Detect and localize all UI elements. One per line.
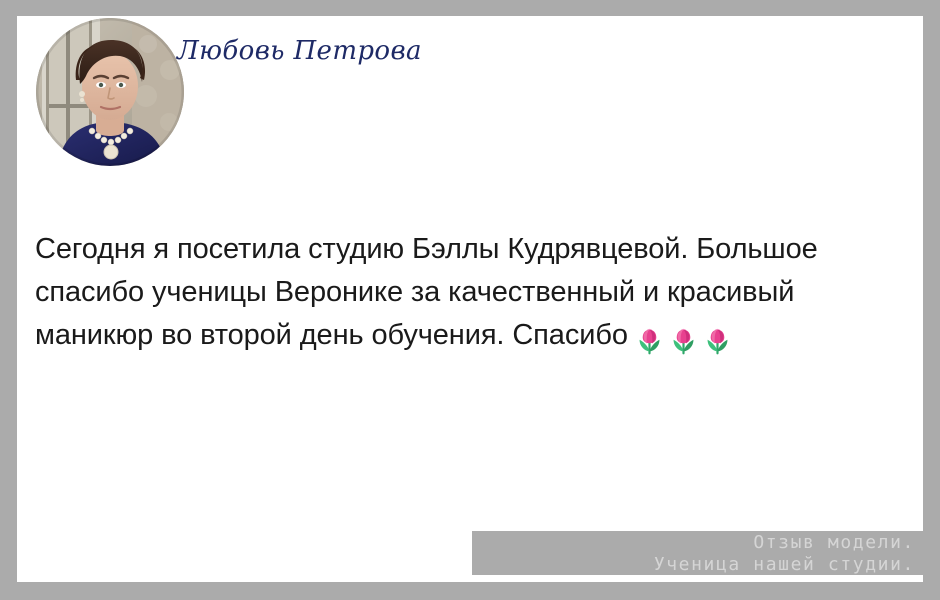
tulip-icon	[635, 327, 664, 356]
review-text: Сегодня я посетила студию Бэллы Кудрявце…	[35, 228, 910, 357]
review-card: Любовь Петрова Сегодня я посетила студию…	[17, 16, 923, 582]
review-line-3-text: маникюр во второй день обучения. Спасибо	[35, 319, 628, 351]
review-line-2: спасибо ученицы Веронике за качественный…	[35, 271, 910, 314]
tulip-icon	[703, 327, 732, 356]
tulip-icon	[669, 327, 698, 356]
review-line-1: Сегодня я посетила студию Бэллы Кудрявце…	[35, 228, 910, 271]
watermark-line-2: Ученица нашей студии.	[472, 554, 915, 576]
review-line-3: маникюр во второй день обучения. Спасибо	[35, 314, 910, 357]
avatar-photo	[36, 18, 184, 166]
watermark-line-1: Отзыв модели.	[472, 532, 915, 554]
watermark-banner: Отзыв модели. Ученица нашей студии.	[472, 531, 923, 575]
tulip-emoji-group	[635, 327, 737, 356]
avatar	[36, 18, 184, 166]
review-header: Любовь Петрова	[17, 16, 923, 186]
screenshot-root: Любовь Петрова Сегодня я посетила студию…	[0, 0, 940, 600]
author-name: Любовь Петрова	[177, 37, 422, 66]
